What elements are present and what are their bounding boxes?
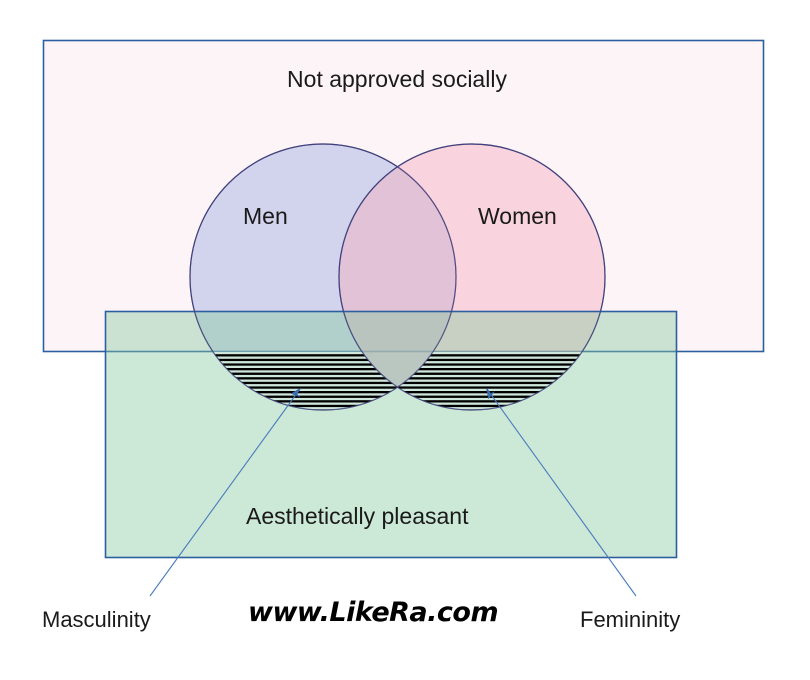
diagram-canvas: Not approved socially Men Women Aestheti… (0, 0, 810, 680)
label-aesthetically-pleasant: Aesthetically pleasant (246, 503, 468, 530)
label-masculinity: Masculinity (42, 607, 151, 633)
label-men: Men (243, 203, 288, 230)
label-femininity: Femininity (580, 607, 680, 633)
label-women: Women (478, 203, 557, 230)
venn-diagram-svg (0, 0, 810, 680)
label-not-approved-socially: Not approved socially (0, 66, 802, 93)
watermark-likera: www.LikeRa.com (248, 597, 498, 628)
